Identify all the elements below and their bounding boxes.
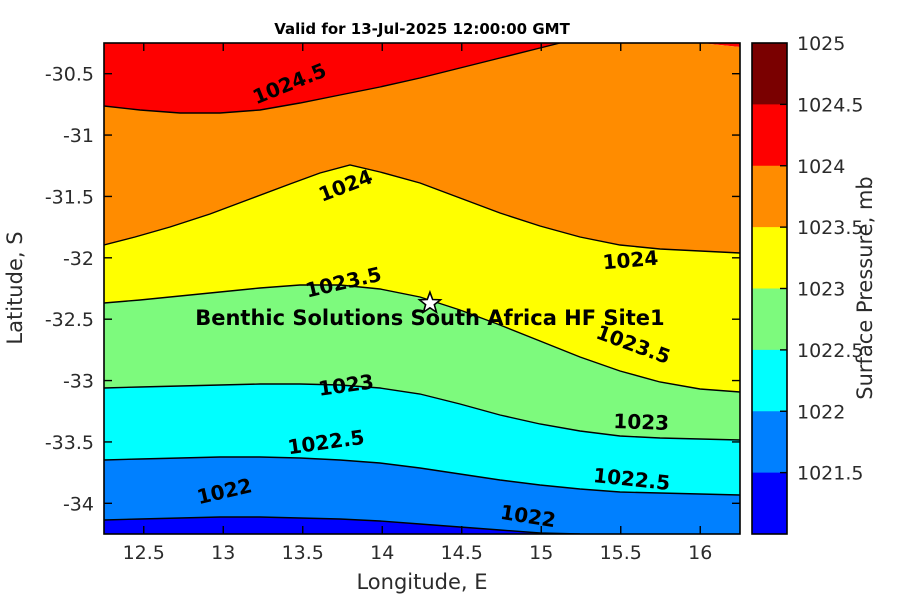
colorbar-swatch[interactable]	[752, 350, 787, 412]
colorbar-title: Surface Pressure, mb	[853, 176, 877, 399]
y-tick-label: -31.5	[45, 186, 94, 208]
site-marker-label: Benthic Solutions South Africa HF Site1	[195, 306, 664, 330]
contour-label: 1024	[602, 246, 660, 275]
colorbar-swatch[interactable]	[752, 473, 787, 535]
y-tick-label: -32	[63, 248, 94, 270]
x-tick-label: 15	[529, 542, 553, 564]
y-tick-label: -33	[63, 371, 94, 393]
x-tick-label: 14.5	[441, 542, 483, 564]
x-tick-label: 16	[688, 542, 712, 564]
colorbar[interactable]: 10251024.510241023.510231022.510221021.5	[752, 33, 863, 535]
colorbar-tick-label: 1021.5	[797, 463, 863, 485]
contour-label: 1023	[613, 409, 669, 435]
y-tick-label: -30.5	[45, 64, 94, 86]
y-tick-label: -32.5	[45, 309, 94, 331]
y-tick-label: -33.5	[45, 432, 94, 454]
colorbar-tick-label: 1024	[797, 156, 845, 178]
contour-figure: Valid for 13-Jul-2025 12:00:00 GMT 1024.…	[0, 0, 900, 600]
colorbar-swatch[interactable]	[752, 411, 787, 473]
x-tick-label: 13.5	[282, 542, 324, 564]
x-tick-label: 12.5	[123, 542, 165, 564]
colorbar-swatch[interactable]	[752, 104, 787, 166]
colorbar-swatch[interactable]	[752, 227, 787, 289]
y-axis-title: Latitude, S	[3, 231, 27, 344]
x-axis-title: Longitude, E	[356, 570, 487, 594]
colorbar-swatch[interactable]	[752, 43, 787, 105]
x-tick-label: 15.5	[600, 542, 642, 564]
colorbar-swatch[interactable]	[752, 289, 787, 351]
y-tick-label: -34	[63, 493, 94, 515]
colorbar-swatch[interactable]	[752, 166, 787, 228]
y-tick-label: -31	[63, 125, 94, 147]
x-tick-label: 13	[211, 542, 235, 564]
figure-canvas: Valid for 13-Jul-2025 12:00:00 GMT 1024.…	[0, 0, 900, 600]
page-title: Valid for 13-Jul-2025 12:00:00 GMT	[274, 20, 570, 38]
x-tick-label: 14	[370, 542, 394, 564]
colorbar-tick-label: 1025	[797, 33, 845, 55]
colorbar-tick-label: 1023	[797, 279, 845, 301]
colorbar-tick-label: 1024.5	[797, 94, 863, 116]
colorbar-tick-label: 1022	[797, 401, 845, 423]
contour-bands	[104, 43, 740, 534]
